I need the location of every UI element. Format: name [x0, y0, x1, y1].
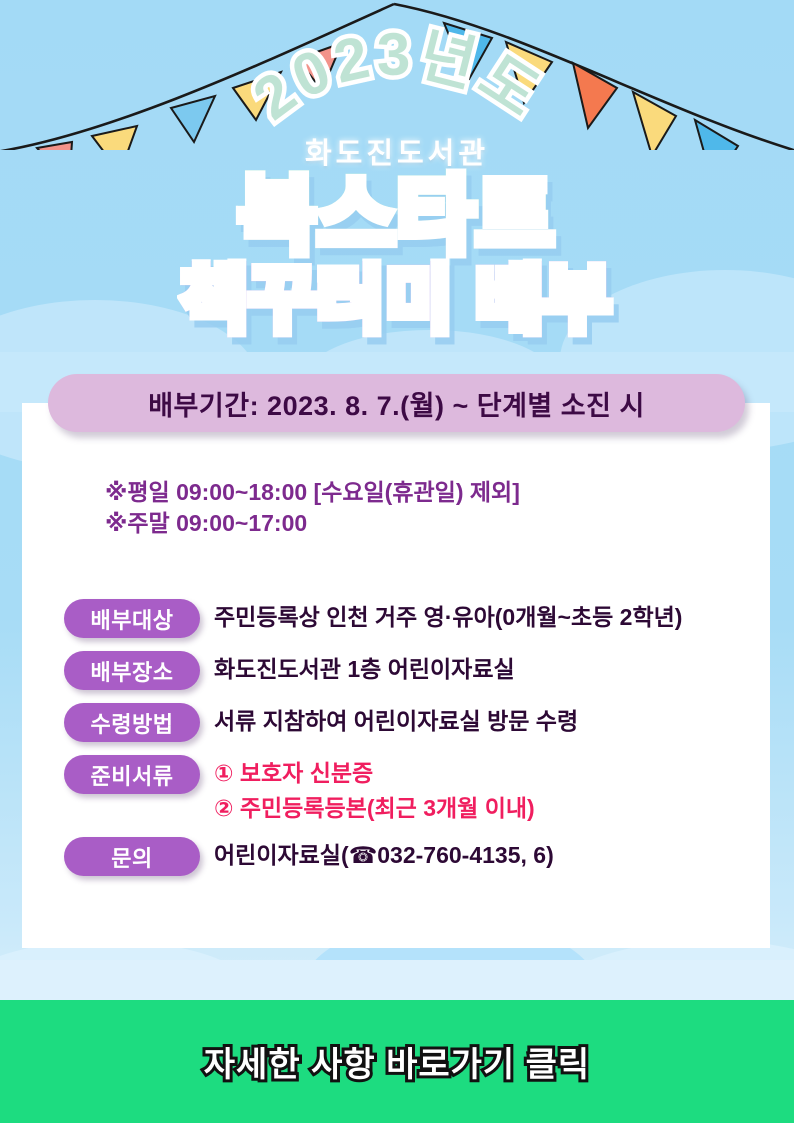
info-label-contact: 문의: [64, 837, 200, 876]
footer-cta-label[interactable]: 자세한 사항 바로가기 클릭: [204, 1037, 590, 1086]
info-value-documents: ① 보호자 신분증 ② 주민등록등본(최근 3개월 이내): [214, 754, 535, 826]
cloud-band-lower: [0, 960, 794, 1005]
info-value-contact: 어린이자료실(☎032-760-4135, 6): [214, 836, 554, 873]
info-label-method: 수령방법: [64, 703, 200, 742]
info-value-line: ① 보호자 신분증: [214, 756, 535, 791]
distribution-period-banner: 배부기간: 2023. 8. 7.(월) ~ 단계별 소진 시: [48, 374, 745, 432]
operating-hours: ※평일 09:00~18:00 [수요일(휴관일) 제외] ※주말 09:00~…: [105, 477, 520, 539]
info-value-line: 주민등록상 인천 거주 영·유아(0개월~초등 2학년): [214, 600, 682, 635]
distribution-period-text: 배부기간: 2023. 8. 7.(월) ~ 단계별 소진 시: [148, 384, 645, 423]
info-value-method: 서류 지참하여 어린이자료실 방문 수령: [214, 702, 578, 739]
info-row-location: 배부장소 화도진도서관 1층 어린이자료실: [64, 650, 764, 690]
title-line-1: 북스타트: [0, 168, 794, 264]
operating-hours-weekend: ※주말 09:00~17:00: [105, 508, 520, 539]
info-value-location: 화도진도서관 1층 어린이자료실: [214, 650, 515, 687]
svg-text:2023년도: 2023년도: [241, 20, 555, 132]
info-label-documents: 준비서류: [64, 755, 200, 794]
library-name: 화도진도서관: [0, 130, 794, 172]
info-row-list: 배부대상 주민등록상 인천 거주 영·유아(0개월~초등 2학년) 배부장소 화…: [64, 598, 764, 888]
info-label-location: 배부장소: [64, 651, 200, 690]
info-value-line: 화도진도서관 1층 어린이자료실: [214, 652, 515, 687]
operating-hours-weekday: ※평일 09:00~18:00 [수요일(휴관일) 제외]: [105, 477, 520, 508]
info-value-line: 어린이자료실(☎032-760-4135, 6): [214, 838, 554, 873]
title-line-1-text: 북스타트: [238, 169, 555, 263]
footer-cta-bar[interactable]: 자세한 사항 바로가기 클릭: [0, 1000, 794, 1123]
info-row-target: 배부대상 주민등록상 인천 거주 영·유아(0개월~초등 2학년): [64, 598, 764, 638]
year-arc-textpath: 2023년도: [241, 20, 555, 132]
poster-root: 2023년도 화도진도서관 북스타트 책꾸러미 배부 배부기간: 2023. 8…: [0, 0, 794, 1123]
info-label-target: 배부대상: [64, 599, 200, 638]
title-line-2-text: 책꾸러미 배부: [181, 261, 612, 341]
title-zone: 2023년도 화도진도서관 북스타트 책꾸러미 배부: [0, 0, 794, 360]
info-value-target: 주민등록상 인천 거주 영·유아(0개월~초등 2학년): [214, 598, 682, 635]
year-arc-text: 2023년도: [0, 12, 794, 142]
info-value-line: 서류 지참하여 어린이자료실 방문 수령: [214, 704, 578, 739]
info-row-contact: 문의 어린이자료실(☎032-760-4135, 6): [64, 836, 764, 876]
title-line-2: 책꾸러미 배부: [0, 258, 794, 344]
info-value-line: ② 주민등록등본(최근 3개월 이내): [214, 791, 535, 826]
info-row-method: 수령방법 서류 지참하여 어린이자료실 방문 수령: [64, 702, 764, 742]
info-row-documents: 준비서류 ① 보호자 신분증 ② 주민등록등본(최근 3개월 이내): [64, 754, 764, 826]
